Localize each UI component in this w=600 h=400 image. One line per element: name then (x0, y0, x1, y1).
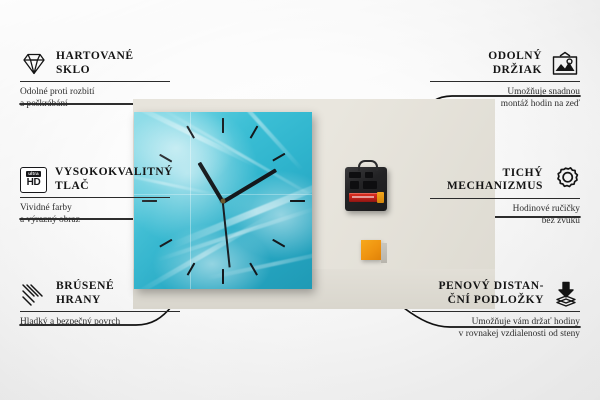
battery-label-stripe (352, 196, 374, 198)
mechanism-detail (349, 172, 361, 178)
feature-header: PENOVÝ DISTAN- ČNÍ PODLOŽKY (412, 280, 580, 307)
feature-title-line1: PENOVÝ DISTAN- (412, 280, 544, 294)
feature-divider (430, 81, 580, 82)
feature-desc-line1: Umožňuje vám držať hodiny (412, 317, 580, 329)
feature-title-line2: MECHANIZMUS (447, 180, 543, 194)
feature-title-line1: HARTOVANÉ (56, 50, 134, 64)
battery-positive-terminal (377, 192, 384, 203)
feature-desc-line2: bez zvuku (430, 216, 580, 228)
foam-spacer-shadow (381, 243, 387, 263)
feature-desc-line2: v rovnakej vzdialenosti od steny (412, 329, 580, 341)
feature-foam-spacers: PENOVÝ DISTAN- ČNÍ PODLOŽKY Umožňuje vám… (412, 280, 580, 340)
feature-desc-line1: Hladký a bezpečný povrch (20, 317, 180, 329)
feature-high-quality-print: ultra HD VYSOKOKVALITNÝ TLAČ Vividné far… (20, 166, 170, 226)
feature-title-line1: VYSOKOKVALITNÝ (55, 166, 173, 180)
feature-divider (430, 198, 580, 199)
picture-frame-hanger-icon (550, 51, 580, 77)
feature-silent-mechanism: TICHÝ MECHANIZMUS Hodinové ručičky bez z… (430, 166, 580, 227)
infographic-stage: HARTOVANÉ SKLO Odolné proti rozbití a po… (0, 0, 600, 400)
mechanism-detail (365, 172, 373, 178)
feature-title-line2: TLAČ (55, 180, 173, 194)
feature-desc-line1: Vividné farby (20, 203, 170, 215)
gear-icon (551, 166, 580, 194)
mechanism-detail (363, 181, 377, 189)
feature-beveled-edges: BRÚSENÉ HRANY Hladký a bezpečný povrch (20, 280, 180, 329)
feature-title-line1: ODOLNÝ (488, 50, 542, 64)
feature-title-line1: TICHÝ (447, 167, 543, 181)
feature-title-line2: ČNÍ PODLOŽKY (412, 294, 544, 308)
feature-divider (412, 311, 580, 312)
feature-tempered-glass: HARTOVANÉ SKLO Odolné proti rozbití a po… (20, 50, 170, 110)
feature-desc-line1: Odolné proti rozbití (20, 87, 170, 99)
feature-desc-line1: Hodinové ručičky (430, 204, 580, 216)
foam-spacer-pad (361, 240, 381, 260)
feature-title-line2: HRANY (56, 294, 114, 308)
foam-pad-arrow-icon (552, 281, 580, 307)
feature-divider (20, 311, 180, 312)
feature-desc-line2: a výrazný obraz (20, 215, 170, 227)
mechanism-hanger-hook (358, 160, 378, 171)
feature-desc-line2: montáž hodin na zeď (430, 99, 580, 111)
feature-header: BRÚSENÉ HRANY (20, 280, 180, 307)
feature-header: ultra HD VYSOKOKVALITNÝ TLAČ (20, 166, 170, 193)
feature-title-line2: SKLO (56, 64, 134, 78)
feature-title-line2: DRŽIAK (488, 64, 542, 78)
feature-title-line1: BRÚSENÉ (56, 280, 114, 294)
feature-divider (20, 81, 170, 82)
diamond-icon (20, 51, 48, 77)
feature-durable-holder: ODOLNÝ DRŽIAK Umožňuje snadnou montáž ho… (430, 50, 580, 110)
feature-header: HARTOVANÉ SKLO (20, 50, 170, 77)
feature-desc-line2: a poškrábání (20, 99, 170, 111)
ultra-hd-badge-icon: ultra HD (20, 167, 47, 193)
feature-header: ODOLNÝ DRŽIAK (430, 50, 580, 77)
ultra-hd-badge-large-text: HD (27, 178, 41, 188)
aa-battery (349, 193, 383, 202)
mechanism-detail (350, 181, 359, 189)
feature-header: TICHÝ MECHANIZMUS (430, 166, 580, 194)
beveled-edges-icon (20, 282, 48, 306)
ultra-hd-badge-small-text: ultra (26, 171, 41, 176)
clock-mechanism (345, 167, 387, 211)
feature-divider (20, 197, 170, 198)
feature-desc-line1: Umožňuje snadnou (430, 87, 580, 99)
